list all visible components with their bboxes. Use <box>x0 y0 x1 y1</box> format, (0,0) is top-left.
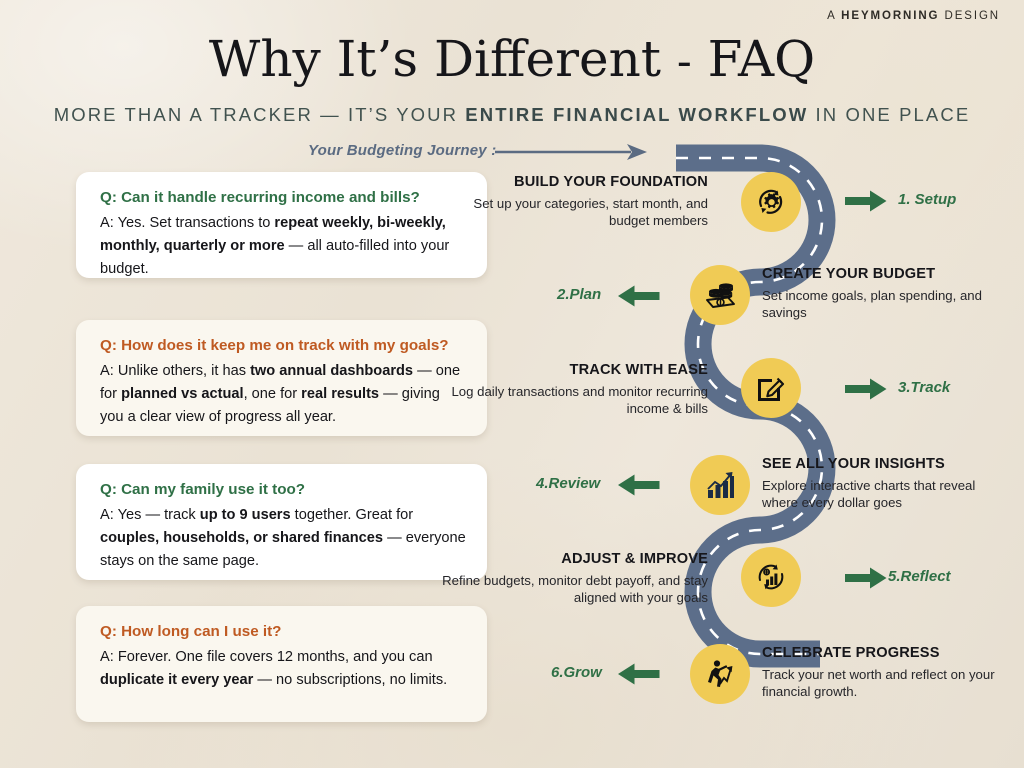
step-icon-circle-6[interactable] <box>690 644 750 704</box>
step-icon-circle-5[interactable] <box>741 547 801 607</box>
step-number-6: 6.Grow <box>551 664 602 681</box>
step-icon-circle-2[interactable] <box>690 265 750 325</box>
step-title: TRACK WITH EASE <box>448 362 708 380</box>
step-icon-circle-3[interactable] <box>741 358 801 418</box>
step-title: BUILD YOUR FOUNDATION <box>448 174 708 192</box>
roadmap: BUILD YOUR FOUNDATION Set up your catego… <box>0 0 1024 768</box>
step-desc: Refine budgets, monitor debt payoff, and… <box>438 572 708 607</box>
arrow-left-green-icon-6 <box>618 663 660 685</box>
step-title: CELEBRATE PROGRESS <box>762 645 998 663</box>
step-icon-circle-1[interactable] <box>741 172 801 232</box>
step-title: SEE ALL YOUR INSIGHTS <box>762 456 994 474</box>
money-stack-icon <box>702 277 738 313</box>
step-title: ADJUST & IMPROVE <box>438 551 708 569</box>
step-text-4: SEE ALL YOUR INSIGHTS Explore interactiv… <box>762 456 994 512</box>
arrow-left-green-icon-4 <box>618 474 660 496</box>
step-title: CREATE YOUR BUDGET <box>762 266 992 284</box>
step-number-2: 2.Plan <box>557 286 601 303</box>
person-climbing-icon <box>703 657 737 691</box>
step-desc: Set income goals, plan spending, and sav… <box>762 287 992 322</box>
step-desc: Track your net worth and reflect on your… <box>762 666 998 701</box>
step-number-4: 4.Review <box>536 475 600 492</box>
step-text-2: CREATE YOUR BUDGET Set income goals, pla… <box>762 266 992 322</box>
step-desc: Log daily transactions and monitor recur… <box>448 383 708 418</box>
arrow-right-green-icon-5 <box>845 567 887 589</box>
step-number-3: 3.Track <box>898 379 950 396</box>
edit-note-icon <box>754 371 788 405</box>
step-desc: Explore interactive charts that reveal w… <box>762 477 994 512</box>
step-text-3: TRACK WITH EASE Log daily transactions a… <box>448 362 708 418</box>
step-icon-circle-4[interactable] <box>690 455 750 515</box>
arrow-right-green-icon-1 <box>845 190 887 212</box>
arrow-right-green-icon-3 <box>845 378 887 400</box>
arrow-left-green-icon-2 <box>618 285 660 307</box>
step-text-5: ADJUST & IMPROVE Refine budgets, monitor… <box>438 551 708 607</box>
step-text-6: CELEBRATE PROGRESS Track your net worth … <box>762 645 998 701</box>
chart-refresh-icon <box>754 560 788 594</box>
step-number-1: 1. Setup <box>898 191 956 208</box>
step-desc: Set up your categories, start month, and… <box>448 195 708 230</box>
bar-chart-growth-icon <box>703 468 737 502</box>
gear-refresh-icon <box>753 184 789 220</box>
step-text-1: BUILD YOUR FOUNDATION Set up your catego… <box>448 174 708 230</box>
step-number-5: 5.Reflect <box>888 568 951 585</box>
